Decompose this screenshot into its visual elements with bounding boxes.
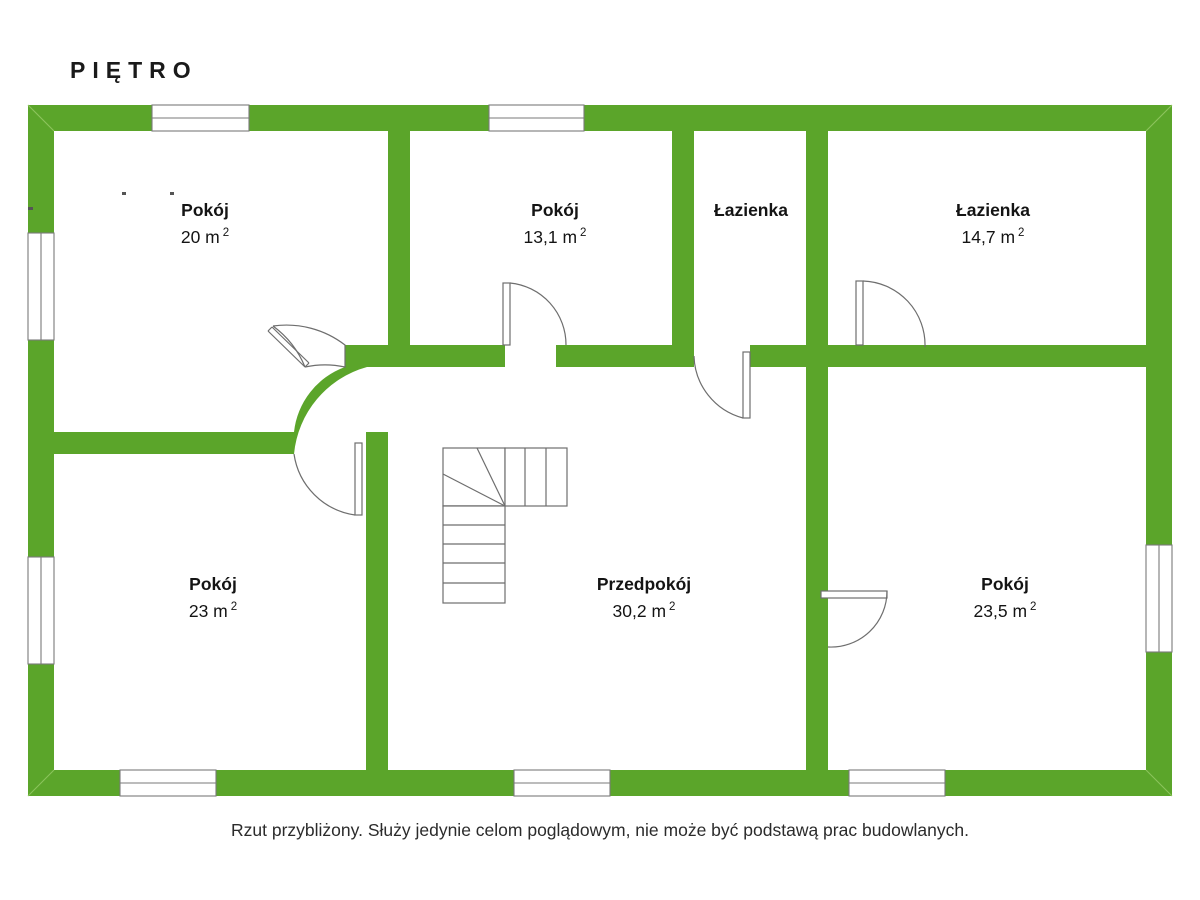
wall-interior-h-right	[750, 345, 1172, 367]
room-name: Pokój	[189, 576, 237, 594]
room-name: Pokój	[524, 202, 587, 220]
door-upper-left-room	[268, 325, 345, 367]
door-lower-left-room	[294, 443, 362, 515]
wall-interior-v1	[388, 105, 410, 355]
floor-plan-drawing	[0, 0, 1200, 900]
stair-lower-run	[443, 506, 505, 603]
window-bottom-right	[849, 770, 945, 796]
window-left-lower	[28, 557, 54, 664]
disclaimer-note: Rzut przybliżony. Służy jedynie celom po…	[0, 820, 1200, 841]
floor-plan-page: PIĘTRO	[0, 0, 1200, 900]
room-label-pokoj-20: Pokój 20 m2	[181, 202, 229, 246]
window-top-left	[152, 105, 249, 131]
door-small-bathroom	[694, 352, 750, 418]
window-left-upper	[28, 233, 54, 340]
wall-interior-rounded-corner	[294, 345, 367, 454]
room-area: 20 m2	[181, 229, 229, 247]
stair-top-run	[505, 448, 567, 506]
room-area: 30,2 m2	[597, 603, 691, 621]
room-name: Łazienka	[714, 202, 788, 220]
room-label-lazienka-14-7: Łazienka 14,7 m2	[956, 202, 1030, 246]
room-label-przedpokoj-30-2: Przedpokój 30,2 m2	[597, 576, 691, 620]
door-room-13	[503, 283, 566, 345]
room-label-pokoj-23-5: Pokój 23,5 m2	[974, 576, 1037, 620]
staircase	[443, 448, 567, 603]
room-name: Łazienka	[956, 202, 1030, 220]
door-right-lower-room	[821, 591, 887, 647]
room-label-pokoj-13-1: Pokój 13,1 m2	[524, 202, 587, 246]
wall-interior-h-mid	[556, 345, 694, 367]
room-area: 13,1 m2	[524, 229, 587, 247]
room-area: 23 m2	[189, 603, 237, 621]
wall-interior-h-mid2	[345, 345, 505, 367]
stair-winder-block	[443, 448, 505, 506]
wall-interior-v4	[366, 432, 388, 796]
window-top-mid	[489, 105, 584, 131]
room-area: 14,7 m2	[956, 229, 1030, 247]
room-name: Pokój	[181, 202, 229, 220]
room-area: 23,5 m2	[974, 603, 1037, 621]
wall-interior-h-left	[28, 432, 294, 454]
room-label-pokoj-23: Pokój 23 m2	[189, 576, 237, 620]
window-bottom-left	[120, 770, 216, 796]
window-bottom-mid	[514, 770, 610, 796]
page-title: PIĘTRO	[70, 57, 198, 84]
room-label-lazienka-small: Łazienka	[714, 202, 788, 220]
wall-interior-v2	[672, 105, 694, 355]
room-name: Przedpokój	[597, 576, 691, 594]
door-big-bathroom	[856, 281, 925, 347]
window-right-lower	[1146, 545, 1172, 652]
wall-interior-v3	[806, 105, 828, 796]
wall-exterior-right	[1146, 105, 1172, 796]
room-name: Pokój	[974, 576, 1037, 594]
